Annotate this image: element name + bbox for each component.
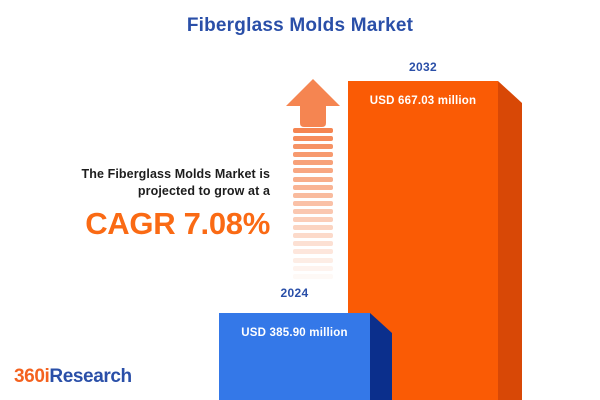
logo-suffix: Research	[49, 366, 131, 387]
arrow-stripe	[293, 225, 333, 230]
arrow-stripe	[293, 136, 333, 141]
arrow-stripe	[293, 177, 333, 182]
arrow-stripe	[293, 160, 333, 165]
bar-2032-side-face	[498, 81, 522, 400]
page-title: Fiberglass Molds Market	[0, 15, 600, 37]
arrow-stripe	[293, 209, 333, 214]
arrow-head-icon	[285, 78, 341, 128]
arrow-stripe	[293, 274, 333, 279]
arrow-stripe	[293, 217, 333, 222]
cagr-callout: The Fiberglass Molds Market is projected…	[38, 166, 270, 242]
bar-label-2032: 2032	[348, 60, 498, 74]
cagr-description: The Fiberglass Molds Market is projected…	[38, 166, 270, 200]
arrow-stripe	[293, 233, 333, 238]
arrow-stripe	[293, 144, 333, 149]
up-arrow-icon	[285, 78, 341, 294]
arrow-stripe	[293, 128, 333, 133]
logo-prefix: 360i	[14, 366, 49, 387]
arrow-stripe	[293, 266, 333, 271]
arrow-stripe	[293, 201, 333, 206]
brand-logo: 360iResearch	[14, 366, 132, 388]
infographic-canvas: Fiberglass Molds Market 2032 USD 667.03 …	[0, 0, 600, 400]
bar-value-2032: USD 667.03 million	[348, 95, 498, 107]
bar-label-2024: 2024	[219, 286, 370, 300]
arrow-stripe	[293, 258, 333, 263]
arrow-stripe	[293, 193, 333, 198]
arrow-stripe	[293, 249, 333, 254]
bar-value-2024: USD 385.90 million	[219, 327, 370, 339]
arrow-stripe	[293, 152, 333, 157]
arrow-stripe	[293, 185, 333, 190]
arrow-stripe	[293, 241, 333, 246]
arrow-stripe	[293, 168, 333, 173]
arrow-tail-stripes	[293, 128, 333, 294]
cagr-value: CAGR 7.08%	[38, 206, 270, 242]
